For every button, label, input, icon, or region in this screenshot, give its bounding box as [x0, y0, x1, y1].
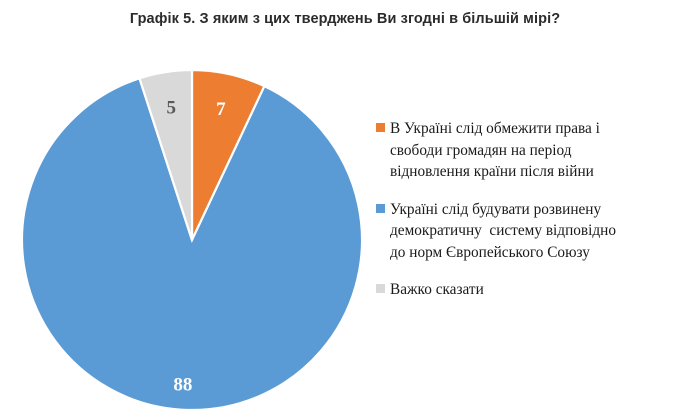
legend-item-hard-to-say[interactable]: Важко сказати: [376, 279, 682, 301]
legend-item-label: Україні слід будувати розвинену демократ…: [390, 199, 616, 264]
pie-label-build-eu-democracy: 88: [173, 374, 192, 395]
pie-chart-figure: Графік 5. З яким з цих тверджень Ви згод…: [0, 0, 690, 419]
legend-item-label: Важко сказати: [390, 279, 484, 301]
legend-item-build-eu-democracy[interactable]: Україні слід будувати розвинену демократ…: [376, 199, 682, 264]
legend-item-restrict-rights[interactable]: В Україні слід обмежити права і свободи …: [376, 118, 682, 183]
legend-swatch-icon: [376, 204, 385, 213]
chart-title: Графік 5. З яким з цих тверджень Ви згод…: [0, 11, 690, 27]
legend-item-label: В Україні слід обмежити права і свободи …: [390, 118, 600, 183]
pie-slices: [22, 70, 362, 410]
legend-swatch-icon: [376, 284, 385, 293]
legend-swatch-icon: [376, 123, 385, 132]
pie-label-hard-to-say: 5: [167, 97, 177, 118]
pie-svg: 7 88 5: [18, 66, 366, 414]
pie-plot-area: 7 88 5: [18, 66, 366, 414]
pie-label-restrict-rights: 7: [216, 99, 226, 120]
chart-legend: В Україні слід обмежити права і свободи …: [376, 118, 682, 317]
